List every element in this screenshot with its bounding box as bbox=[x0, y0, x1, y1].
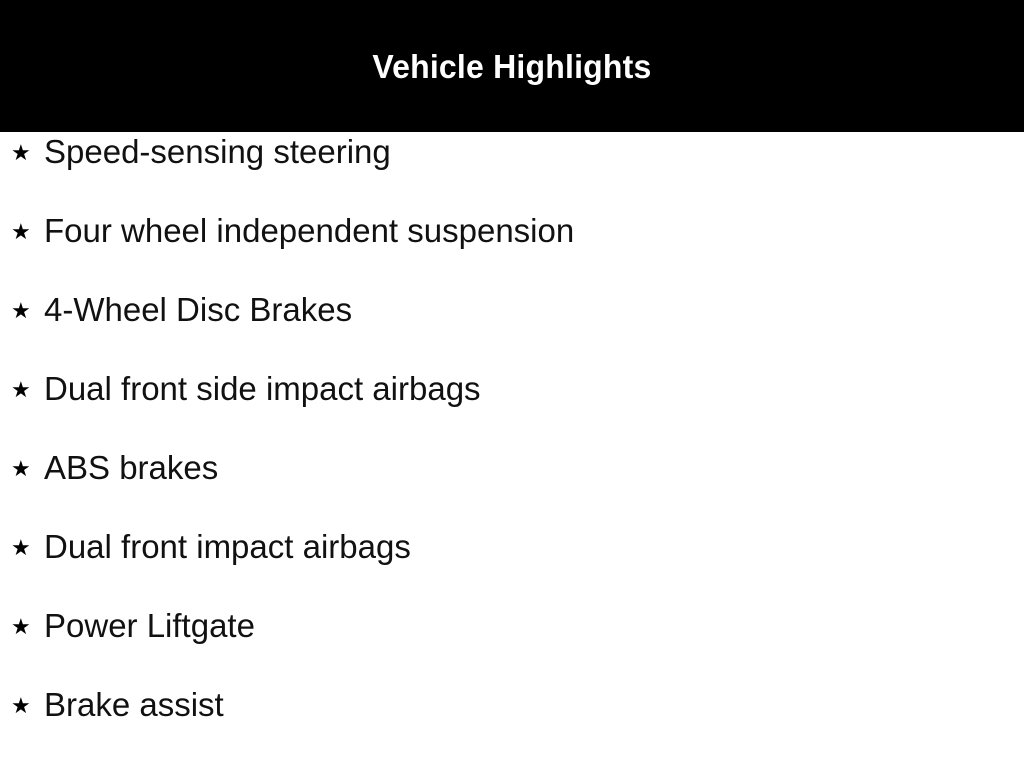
highlight-label: 4-Wheel Disc Brakes bbox=[44, 290, 352, 330]
page-header: Vehicle Highlights bbox=[0, 0, 1024, 132]
highlight-label: Dual front impact airbags bbox=[44, 527, 411, 567]
list-item: ★ Dual front impact airbags bbox=[0, 527, 1024, 606]
list-item: ★ Dual front side impact airbags bbox=[0, 369, 1024, 448]
list-item: ★ 4-Wheel Disc Brakes bbox=[0, 290, 1024, 369]
highlight-label: Dual front side impact airbags bbox=[44, 369, 481, 409]
highlight-label: Four wheel independent suspension bbox=[44, 211, 574, 251]
star-icon: ★ bbox=[11, 449, 31, 489]
list-item: ★ Four wheel independent suspension bbox=[0, 211, 1024, 290]
highlights-list: ★ Speed-sensing steering ★ Four wheel in… bbox=[0, 132, 1024, 764]
highlight-label: Power Liftgate bbox=[44, 606, 255, 646]
star-icon: ★ bbox=[11, 291, 31, 331]
star-icon: ★ bbox=[11, 607, 31, 647]
highlight-label: Speed-sensing steering bbox=[44, 132, 391, 172]
star-icon: ★ bbox=[11, 133, 31, 173]
highlight-label: ABS brakes bbox=[44, 448, 218, 488]
vehicle-highlights-section: ★ Speed-sensing steering ★ Four wheel in… bbox=[0, 132, 1024, 764]
star-icon: ★ bbox=[11, 212, 31, 252]
list-item: ★ Brake assist bbox=[0, 685, 1024, 764]
list-item: ★ Speed-sensing steering bbox=[0, 132, 1024, 211]
page-title: Vehicle Highlights bbox=[372, 50, 651, 83]
star-icon: ★ bbox=[11, 686, 31, 726]
list-item: ★ Power Liftgate bbox=[0, 606, 1024, 685]
highlight-label: Brake assist bbox=[44, 685, 224, 725]
star-icon: ★ bbox=[11, 528, 31, 568]
star-icon: ★ bbox=[11, 370, 31, 410]
list-item: ★ ABS brakes bbox=[0, 448, 1024, 527]
